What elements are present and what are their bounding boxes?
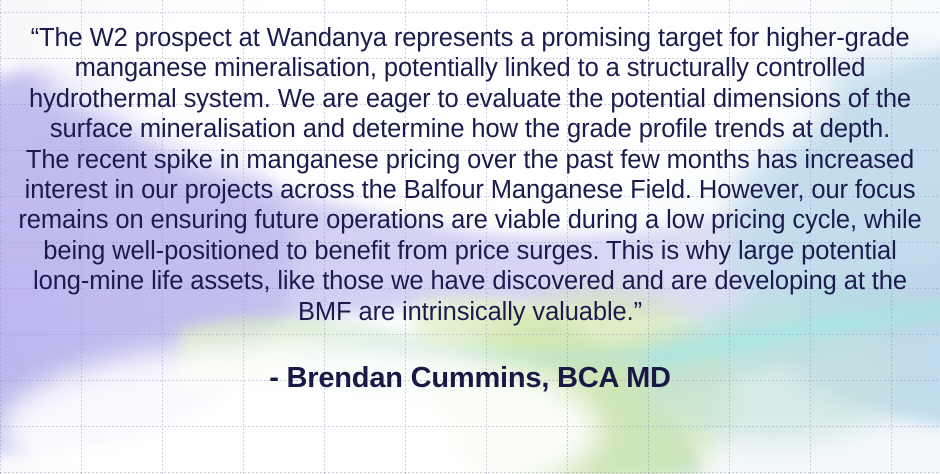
quote-attribution: - Brendan Cummins, BCA MD xyxy=(269,361,671,395)
quote-slide: “The W2 prospect at Wandanya represents … xyxy=(0,0,940,474)
slide-content: “The W2 prospect at Wandanya represents … xyxy=(0,0,940,474)
quote-text: “The W2 prospect at Wandanya represents … xyxy=(14,23,926,327)
